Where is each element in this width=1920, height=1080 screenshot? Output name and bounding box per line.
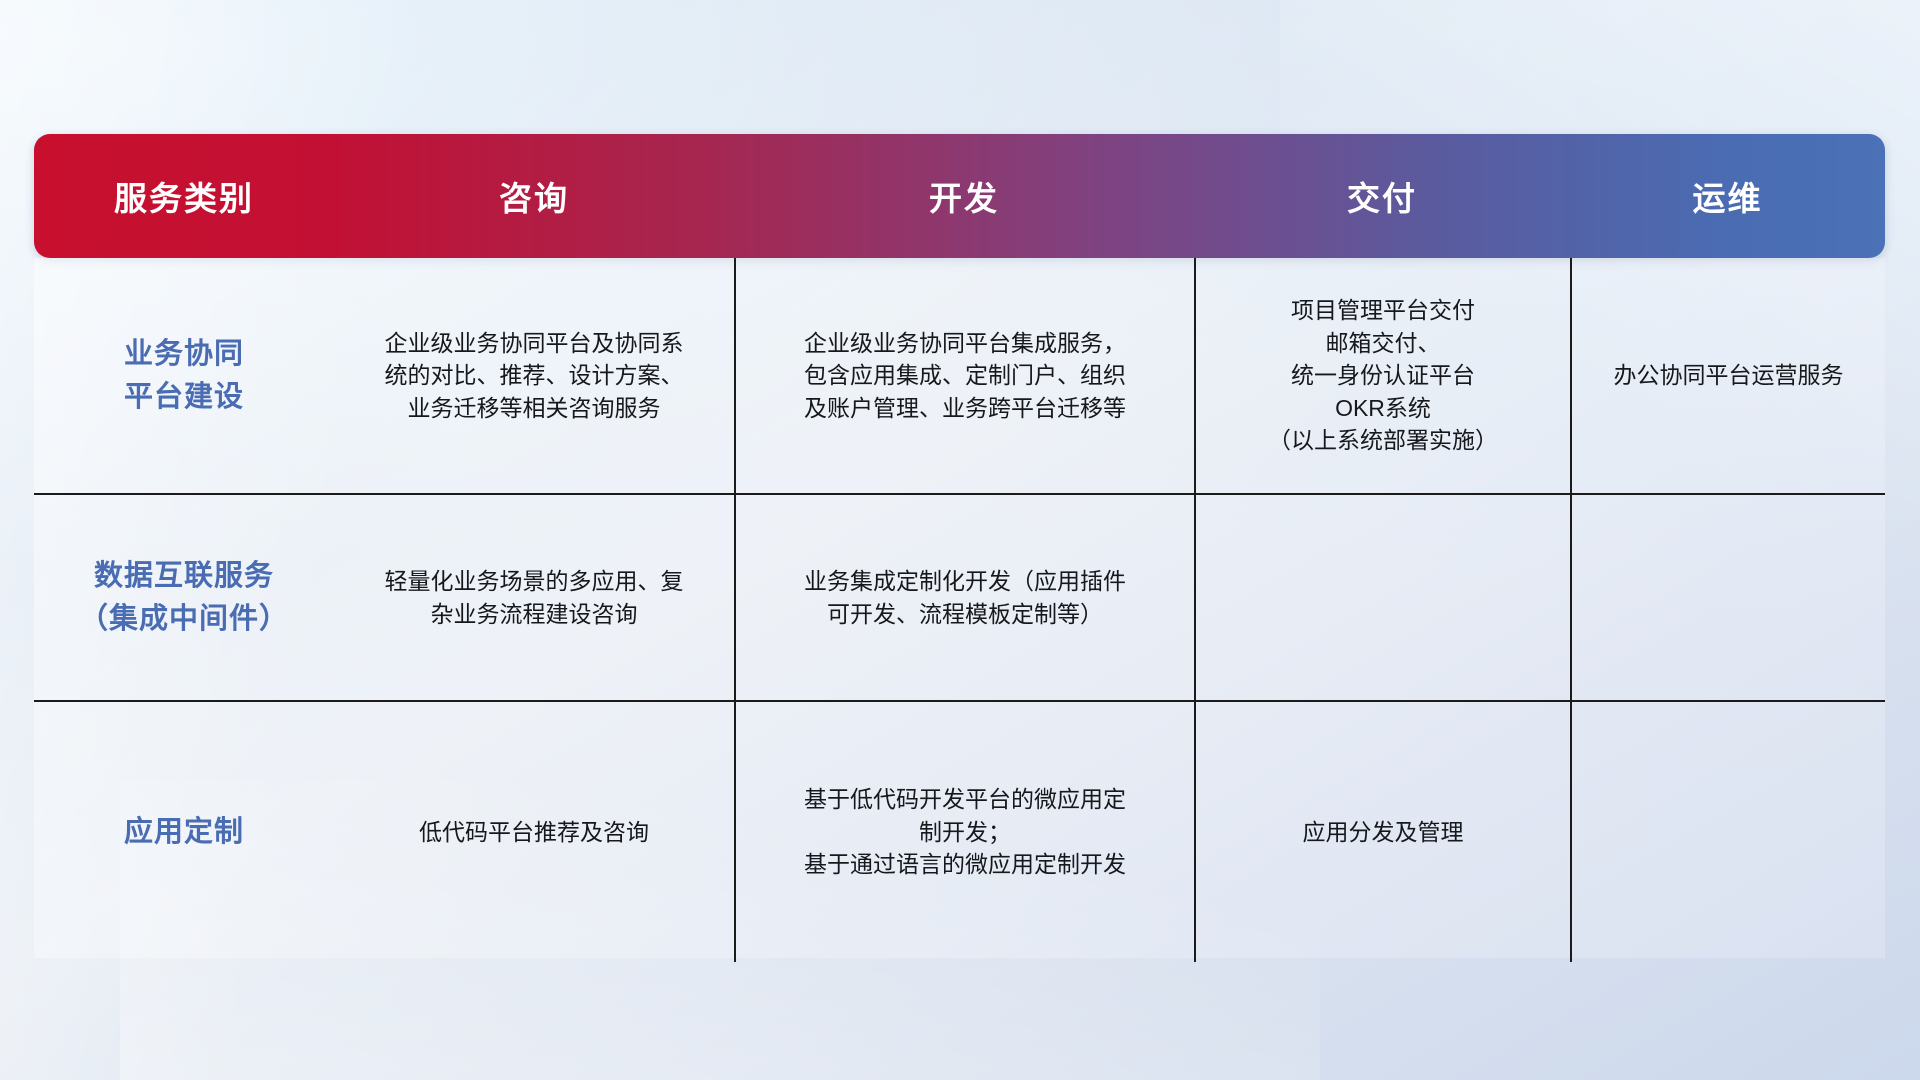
cell-development: 企业级业务协同平台集成服务， 包含应用集成、定制门户、组织 及账户管理、业务跨平…	[734, 258, 1194, 493]
slide-canvas: 服务类别 咨询 开发 交付 运维 业务协同 平台建设 企业级业务协同平台及协同系…	[0, 0, 1920, 1080]
column-header-category: 服务类别	[34, 172, 334, 220]
cell-consulting: 低代码平台推荐及咨询	[334, 702, 734, 962]
cell-category: 数据互联服务 （集成中间件）	[34, 495, 334, 700]
category-label: 数据互联服务 （集成中间件）	[79, 555, 289, 639]
cell-text: 基于低代码开发平台的微应用定 制开发； 基于通过语言的微应用定制开发	[804, 783, 1126, 881]
category-label: 应用定制	[124, 811, 244, 853]
cell-text: 办公协同平台运营服务	[1613, 359, 1843, 392]
cell-text: 业务集成定制化开发（应用插件 可开发、流程模板定制等）	[804, 565, 1126, 630]
cell-text: 企业级业务协同平台及协同系 统的对比、推荐、设计方案、 业务迁移等相关咨询服务	[384, 327, 683, 425]
cell-delivery: 项目管理平台交付 邮箱交付、 统一身份认证平台 OKR系统 （以上系统部署实施）	[1194, 258, 1570, 493]
table-row: 数据互联服务 （集成中间件） 轻量化业务场景的多应用、复 杂业务流程建设咨询 业…	[34, 493, 1885, 700]
cell-development: 基于低代码开发平台的微应用定 制开发； 基于通过语言的微应用定制开发	[734, 702, 1194, 962]
cell-category: 业务协同 平台建设	[34, 258, 334, 493]
cell-text: 轻量化业务场景的多应用、复 杂业务流程建设咨询	[384, 565, 683, 630]
column-header-consulting: 咨询	[334, 172, 734, 220]
cell-text: 企业级业务协同平台集成服务， 包含应用集成、定制门户、组织 及账户管理、业务跨平…	[804, 327, 1126, 425]
cell-delivery	[1194, 495, 1570, 700]
cell-text: 应用分发及管理	[1302, 816, 1463, 849]
cell-operations	[1570, 495, 1885, 700]
cell-text: 低代码平台推荐及咨询	[419, 816, 649, 849]
cell-delivery: 应用分发及管理	[1194, 702, 1570, 962]
table-row: 业务协同 平台建设 企业级业务协同平台及协同系 统的对比、推荐、设计方案、 业务…	[34, 258, 1885, 493]
service-matrix-table: 服务类别 咨询 开发 交付 运维 业务协同 平台建设 企业级业务协同平台及协同系…	[34, 134, 1885, 959]
cell-consulting: 企业级业务协同平台及协同系 统的对比、推荐、设计方案、 业务迁移等相关咨询服务	[334, 258, 734, 493]
column-header-delivery: 交付	[1194, 172, 1570, 220]
table-body: 业务协同 平台建设 企业级业务协同平台及协同系 统的对比、推荐、设计方案、 业务…	[34, 258, 1885, 958]
table-header-row: 服务类别 咨询 开发 交付 运维	[34, 134, 1885, 258]
cell-category: 应用定制	[34, 702, 334, 962]
cell-text: 项目管理平台交付 邮箱交付、 统一身份认证平台 OKR系统 （以上系统部署实施）	[1268, 294, 1498, 457]
column-header-operations: 运维	[1570, 172, 1885, 220]
category-label: 业务协同 平台建设	[124, 333, 244, 417]
cell-consulting: 轻量化业务场景的多应用、复 杂业务流程建设咨询	[334, 495, 734, 700]
column-header-development: 开发	[734, 172, 1194, 220]
cell-operations: 办公协同平台运营服务	[1570, 258, 1885, 493]
cell-development: 业务集成定制化开发（应用插件 可开发、流程模板定制等）	[734, 495, 1194, 700]
table-row: 应用定制 低代码平台推荐及咨询 基于低代码开发平台的微应用定 制开发； 基于通过…	[34, 700, 1885, 962]
cell-operations	[1570, 702, 1885, 962]
